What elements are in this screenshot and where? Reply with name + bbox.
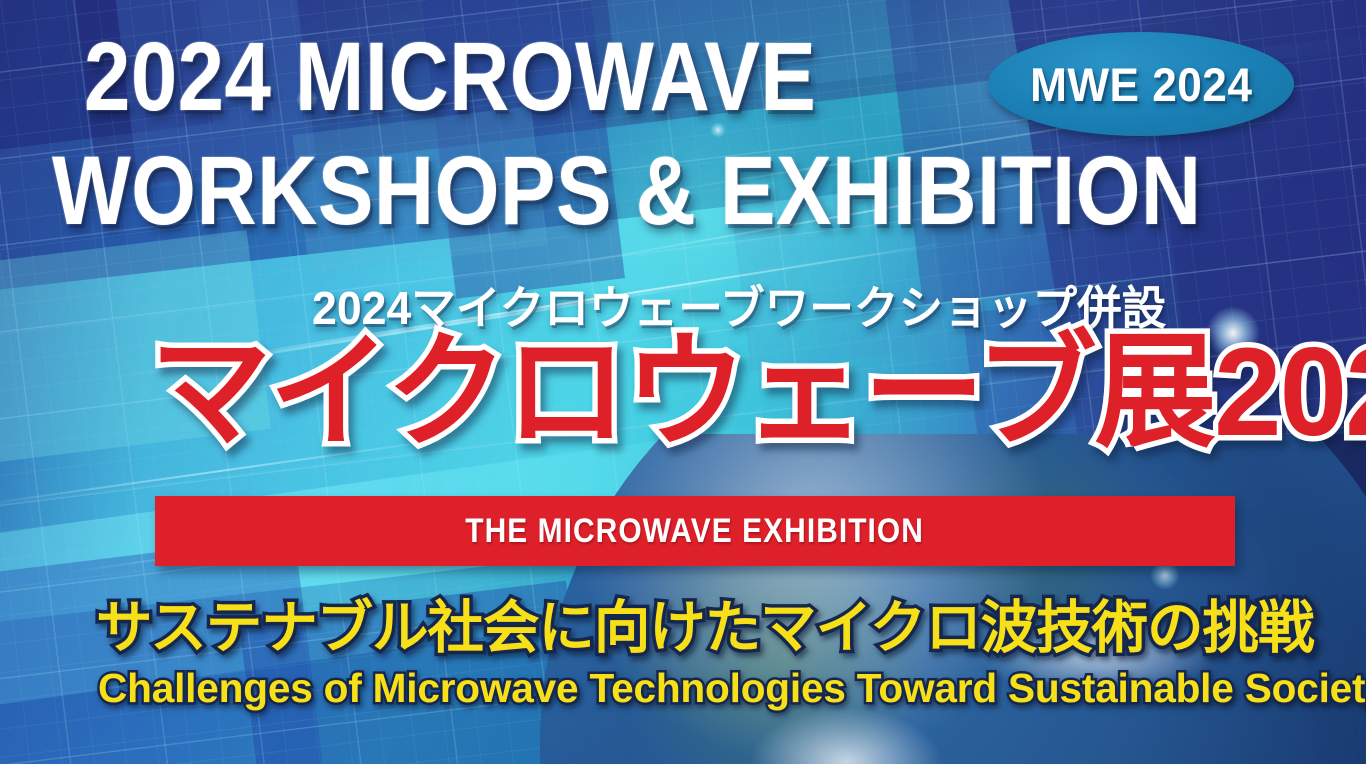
headline-line-2: WORKSHOPS & EXHIBITION (52, 142, 1202, 239)
mwe-2024-badge-label: MWE 2024 (1030, 57, 1252, 112)
english-tagline: Challenges of Microwave Technologies Tow… (98, 668, 1366, 709)
headline-line-1: 2024 MICROWAVE (84, 28, 816, 125)
mwe-2024-badge: MWE 2024 (988, 32, 1294, 136)
japanese-main-title: マイクロウェーブ展2024 (150, 330, 1366, 455)
red-banner-bar-label: THE MICROWAVE EXHIBITION (466, 512, 925, 551)
banner-content: 2024 MICROWAVE WORKSHOPS & EXHIBITION MW… (0, 0, 1366, 764)
mwe-2024-banner: 2024 MICROWAVE WORKSHOPS & EXHIBITION MW… (0, 0, 1366, 764)
red-banner-bar: THE MICROWAVE EXHIBITION (155, 496, 1235, 566)
japanese-tagline: サステナブル社会に向けたマイクロ波技術の挑戦 (96, 600, 1313, 657)
